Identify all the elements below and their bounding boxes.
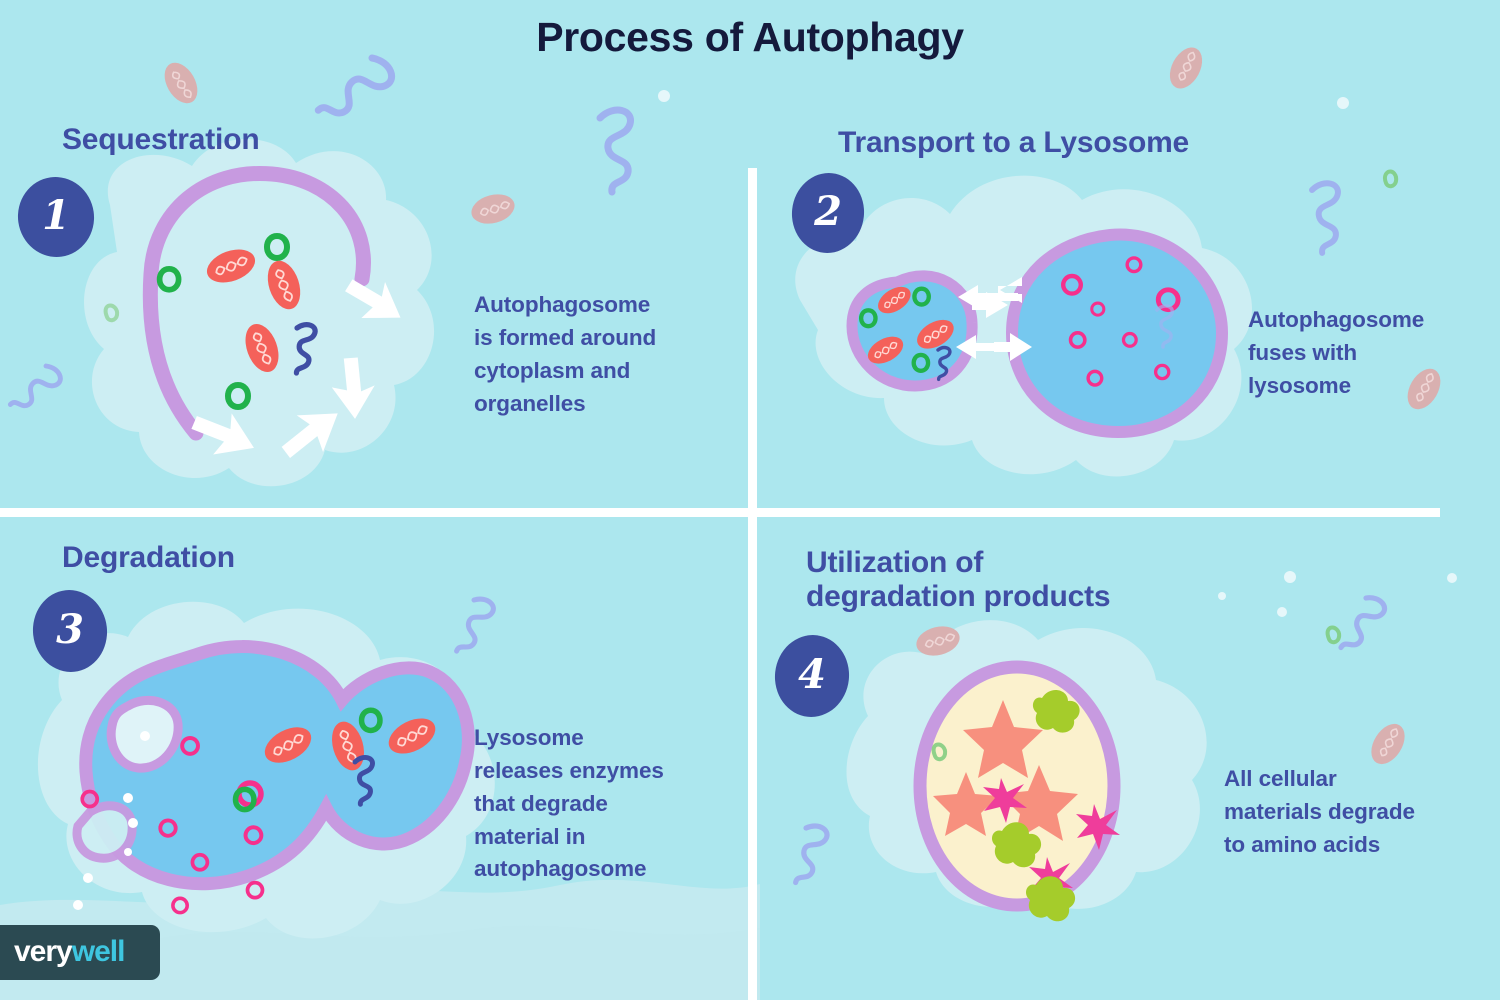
badge-number-layer: 1 2 3 4 xyxy=(0,0,1500,1000)
infographic-canvas: Process of Autophagy Sequestration 1 Aut… xyxy=(0,0,1500,1000)
badge-number-1: 1 xyxy=(28,192,84,239)
logo-very: very xyxy=(14,935,72,968)
badge-number-2: 2 xyxy=(800,188,856,235)
logo-wordmark: verywell xyxy=(14,935,124,969)
logo-well: well xyxy=(72,935,125,968)
badge-number-3: 3 xyxy=(42,606,98,653)
verywell-logo[interactable]: verywell xyxy=(0,925,160,980)
badge-number-4: 4 xyxy=(784,651,840,698)
